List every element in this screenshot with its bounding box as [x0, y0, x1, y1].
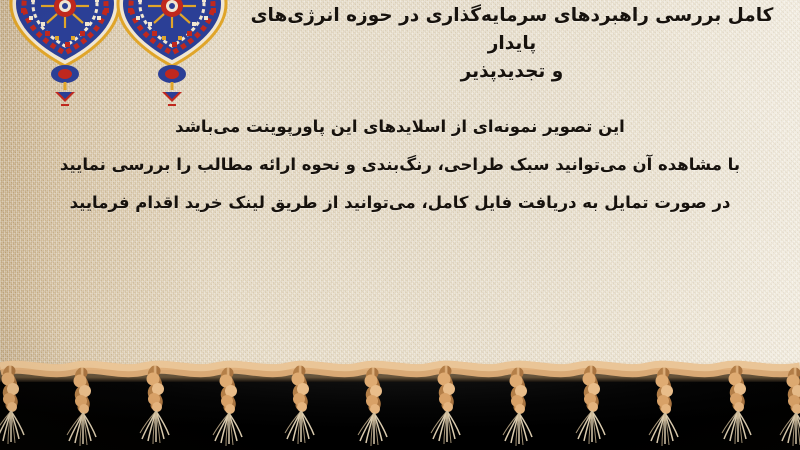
slide-title-line-2: و تجدیدپذیر — [461, 61, 564, 82]
slide-body: این تصویر نمونه‌ای از اسلایدهای این پاور… — [0, 108, 800, 222]
slide-title-line-1: کامل بررسی راهبردهای سرمایه‌گذاری در حوز… — [251, 5, 774, 54]
slide-title: کامل بررسی راهبردهای سرمایه‌گذاری در حوز… — [232, 2, 792, 85]
body-line-3: در صورت تمایل به دریافت فایل کامل، می‌تو… — [0, 184, 800, 222]
bottom-black-band — [0, 370, 800, 450]
body-line-2: با مشاهده آن می‌توانید سبک طراحی، رنگ‌بن… — [0, 146, 800, 184]
body-line-1: این تصویر نمونه‌ای از اسلایدهای این پاور… — [0, 108, 800, 146]
slide-canvas: کامل بررسی راهبردهای سرمایه‌گذاری در حوز… — [0, 0, 800, 450]
